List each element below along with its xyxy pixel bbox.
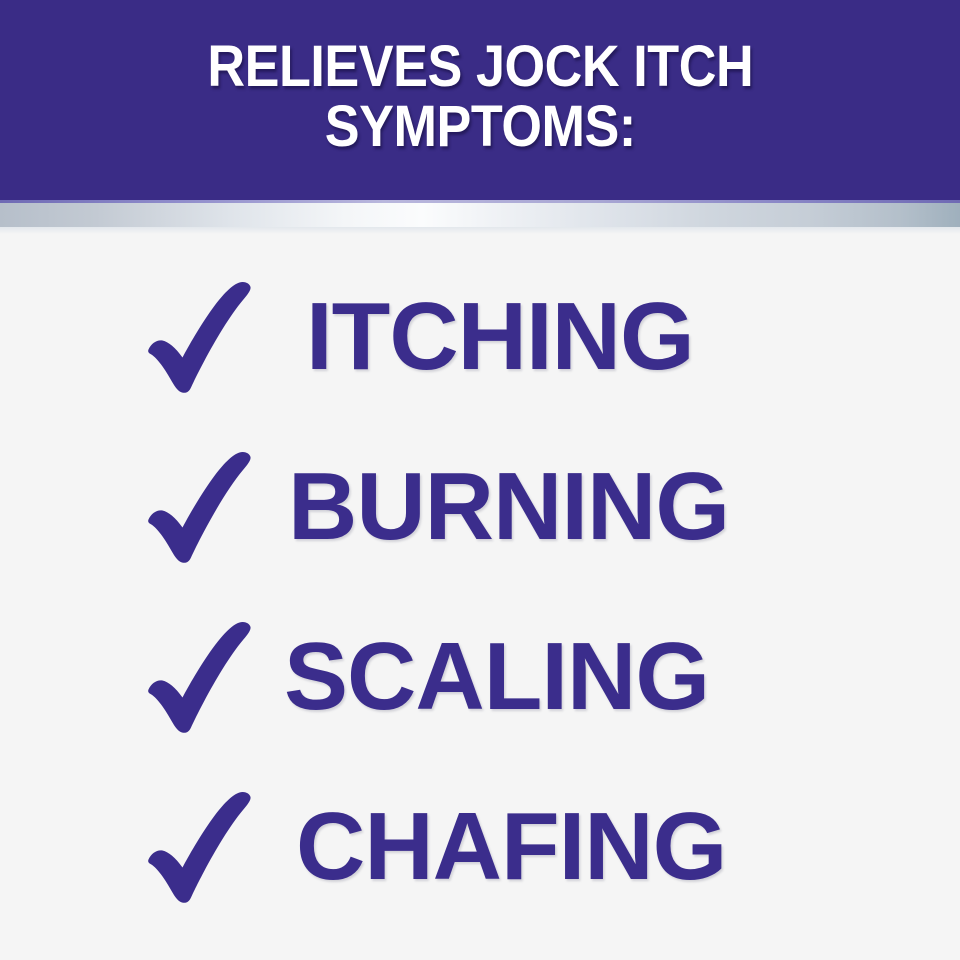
divider-silver-strip xyxy=(0,203,960,227)
list-item: ITCHING xyxy=(0,262,960,412)
list-item: SCALING xyxy=(0,602,960,752)
checkmark-icon xyxy=(144,447,264,567)
checkmark-icon xyxy=(144,617,264,737)
symptom-label: BURNING xyxy=(288,459,729,555)
promo-poster: RELIEVES JOCK ITCH SYMPTOMS: ITCHING BUR… xyxy=(0,0,960,960)
checkmark-icon xyxy=(144,277,264,397)
header-banner: RELIEVES JOCK ITCH SYMPTOMS: xyxy=(0,0,960,200)
checkmark-icon xyxy=(144,787,264,907)
symptom-list: ITCHING BURNING SCALING xyxy=(0,248,960,938)
divider-fade xyxy=(0,227,960,234)
list-item: CHAFING xyxy=(0,772,960,922)
symptom-label: ITCHING xyxy=(306,289,694,385)
list-item: BURNING xyxy=(0,432,960,582)
symptom-label: CHAFING xyxy=(296,799,726,895)
page-title: RELIEVES JOCK ITCH SYMPTOMS: xyxy=(207,37,753,156)
symptom-label: SCALING xyxy=(284,629,709,725)
